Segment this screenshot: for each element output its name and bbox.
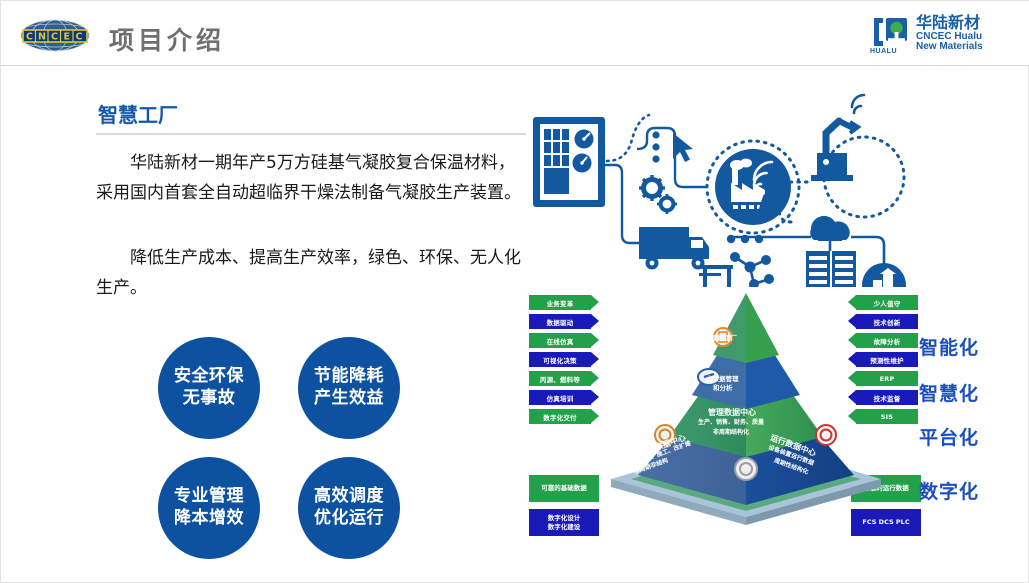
pyramid-graphic [591, 289, 901, 529]
cncec-logo-icon: C N C E C [15, 19, 95, 52]
slide-header: C N C E C 项目介绍 [1, 1, 1029, 66]
iot-illustration [521, 87, 1021, 287]
pyramid-left-tag: 仿真培训 [529, 390, 591, 405]
gears-icon [639, 175, 677, 214]
benefit-circle-line2: 无事故 [183, 388, 236, 410]
molecule-icon [730, 252, 774, 287]
pyramid-badge-center [735, 458, 757, 480]
pyramid-badge-tier1 [714, 328, 732, 346]
desk-icon [699, 265, 733, 287]
hualu-name-en-line2: New Materials [916, 42, 983, 53]
maturity-level-intelligent: 智能化 [919, 333, 979, 360]
benefit-circle-energy: 节能降耗 产生效益 [298, 337, 400, 439]
hualu-mark-label: HUALU [870, 48, 897, 55]
page-title: 项目介绍 [109, 21, 225, 57]
box-line2: 数字化建设 [548, 523, 581, 532]
maturity-pyramid-diagram: 业务变革 数据驱动 在线仿真 可视化决策 丙源、燃料等 仿真培训 数字化交付 可… [521, 289, 1026, 551]
benefit-circle-line2: 降本增效 [174, 508, 244, 530]
hualu-mark-icon: HUALU [870, 14, 910, 54]
truck-icon [639, 227, 709, 270]
pyramid-left-box: 数字化设计 数字化建设 [529, 509, 599, 536]
smart-factory-icon [707, 141, 799, 233]
hualu-name-cn: 华陆新材 [916, 15, 983, 32]
pyramid-left-tag: 数字化交付 [529, 409, 591, 424]
benefit-circle-line1: 专业管理 [174, 486, 244, 508]
pyramid-badge-tier3-left [655, 425, 675, 445]
pyramid-left-box: 可靠的基础数据 [529, 475, 599, 502]
cloud-icon [810, 216, 850, 241]
benefit-circle-line2: 产生效益 [314, 388, 384, 410]
pyramid-left-tag: 可视化决策 [529, 352, 591, 367]
pyramid-badge-tier2 [698, 369, 720, 385]
svg-text:C: C [26, 32, 33, 43]
pyramid-left-tag: 业务变革 [529, 295, 591, 310]
maturity-level-platform: 平台化 [919, 423, 979, 450]
benefit-circle-line1: 高效调度 [314, 486, 384, 508]
server-rack-icon [806, 251, 856, 287]
pyramid-left-tag: 数据驱动 [529, 314, 591, 329]
hmi-panel-icon [533, 117, 605, 207]
svg-text:N: N [38, 32, 46, 43]
benefit-circle-line2: 优化运行 [314, 508, 384, 530]
pyramid-left-tag: 在线仿真 [529, 333, 591, 348]
pyramid-badge-tier3-right [816, 425, 836, 445]
svg-text:C: C [51, 32, 58, 43]
maturity-level-digital: 数字化 [919, 477, 979, 504]
hualu-logo: HUALU 华陆新材 CNCEC Hualu New Materials [870, 13, 1016, 55]
benefit-circle-group: 安全环保 无事故 节能降耗 产生效益 专业管理 降本增效 高效调度 优化运行 [158, 337, 418, 557]
pyramid-left-tag-column: 业务变革 数据驱动 在线仿真 可视化决策 丙源、燃料等 仿真培训 数字化交付 [529, 295, 591, 428]
benefit-circle-line1: 节能降耗 [314, 366, 384, 388]
box-line1: 数字化设计 [548, 514, 581, 523]
section-divider [96, 133, 526, 135]
robot-arm-icon [811, 95, 864, 181]
pyramid-left-box-column: 可靠的基础数据 数字化设计 数字化建设 [529, 475, 599, 543]
maturity-level-smart: 智慧化 [919, 379, 979, 406]
benefit-circle-safety: 安全环保 无事故 [158, 337, 260, 439]
benefit-circle-management: 专业管理 降本增效 [158, 457, 260, 559]
benefit-circle-line1: 安全环保 [174, 366, 244, 388]
benefit-circle-scheduling: 高效调度 优化运行 [298, 457, 400, 559]
body-paragraph-1: 华陆新材一期年产5万方硅基气凝胶复合保温材料，采用国内首套全自动超临界干燥法制备… [96, 149, 528, 209]
section-title: 智慧工厂 [98, 99, 178, 128]
body-paragraph-2: 降低生产成本、提高生产效率，绿色、环保、无人化生产。 [96, 244, 528, 304]
delivery-box-icon [862, 263, 906, 287]
pyramid-left-tag: 丙源、燃料等 [529, 371, 591, 386]
slide-canvas: C N C E C 项目介绍 [0, 0, 1029, 583]
box-line1: 可靠的基础数据 [541, 484, 587, 493]
svg-text:E: E [64, 32, 71, 43]
svg-text:C: C [76, 32, 83, 43]
